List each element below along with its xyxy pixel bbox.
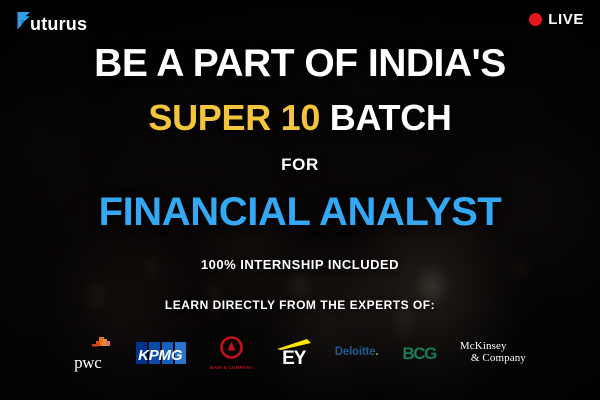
- partner-logo-deloitte: Deloitte.: [335, 333, 379, 373]
- partner-logo-bcg: BCG: [402, 333, 436, 373]
- live-label: LIVE: [548, 11, 584, 28]
- brand-logo[interactable]: uturus: [16, 12, 87, 36]
- deloitte-dot-icon: .: [375, 347, 378, 359]
- partner-logo-ey: EY: [277, 333, 311, 373]
- live-badge: LIVE: [529, 11, 584, 28]
- partner-logo-mckinsey: McKinsey & Company: [460, 333, 526, 373]
- brand-logo-text: uturus: [30, 14, 87, 35]
- experts-label: LEARN DIRECTLY FROM THE EXPERTS OF:: [0, 299, 600, 311]
- internship-note: 100% INTERNSHIP INCLUDED: [0, 258, 600, 271]
- partner-logo-bain: BAIN & COMPANY: [210, 333, 253, 373]
- partner-logo-kpmg: KPMG: [136, 333, 186, 373]
- promotional-banner: uturus LIVE BE A PART OF INDIA'S SUPER 1…: [0, 0, 600, 400]
- live-dot-icon: [529, 13, 542, 26]
- futurus-f-icon: [16, 12, 31, 36]
- deloitte-wordmark: Deloitte: [335, 347, 376, 359]
- headline-line-2: SUPER 10 BATCH: [0, 100, 600, 136]
- bain-circle-icon: [220, 336, 243, 364]
- ey-wordmark: EY: [282, 349, 305, 368]
- partner-logo-strip: pwc KPMG: [0, 330, 600, 376]
- kpmg-blocks-icon: KPMG: [136, 342, 186, 364]
- headline-line-2-rest: BATCH: [330, 97, 452, 138]
- headline-connector: FOR: [0, 156, 600, 173]
- kpmg-wordmark: KPMG: [138, 348, 182, 363]
- headline-block: BE A PART OF INDIA'S SUPER 10 BATCH FOR …: [0, 44, 600, 311]
- bcg-wordmark: BCG: [402, 345, 436, 362]
- headline-line-1: BE A PART OF INDIA'S: [0, 44, 600, 83]
- partner-logo-pwc: pwc: [74, 333, 112, 373]
- pwc-mark-icon: [90, 336, 112, 354]
- headline-role: FINANCIAL ANALYST: [0, 192, 600, 232]
- pwc-wordmark: pwc: [74, 354, 101, 371]
- headline-highlight: SUPER 10: [148, 97, 320, 138]
- bain-wordmark: BAIN & COMPANY: [210, 366, 253, 370]
- mckinsey-wordmark-line-2: & Company: [460, 353, 526, 365]
